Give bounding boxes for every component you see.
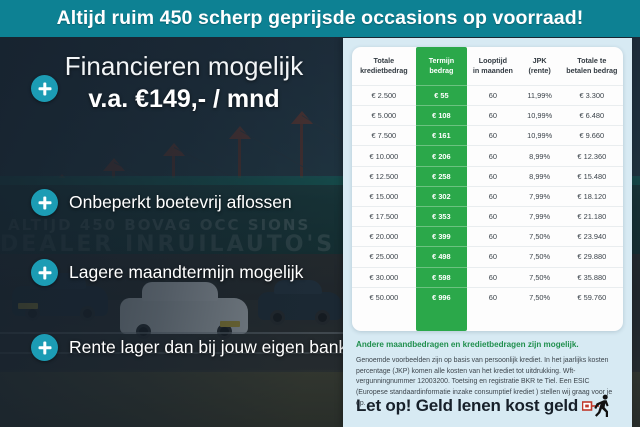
table-cell: € 108	[416, 106, 467, 126]
plus-icon	[31, 259, 58, 286]
table-cell: € 20.000	[352, 227, 416, 247]
table-cell: € 55	[416, 85, 467, 105]
table-cell: € 258	[416, 166, 467, 186]
table-row: € 5.000€ 1086010,99%€ 6.480	[352, 106, 623, 126]
table-row: € 50.000€ 996607,50%€ 59.760	[352, 287, 623, 307]
disclaimer-title: Andere maandbedragen en kredietbedragen …	[356, 340, 620, 351]
table-cell: € 21.180	[561, 207, 623, 227]
credit-warning-text: Let op! Geld lenen kost geld	[356, 396, 578, 416]
table-cell: 7,50%	[519, 287, 561, 307]
table-row: € 2.500€ 556011,99%€ 3.300	[352, 85, 623, 105]
table-cell: € 206	[416, 146, 467, 166]
table-cell: 60	[467, 287, 518, 307]
table-header-row: Totalekredietbedrag Termijnbedrag Loopti…	[352, 47, 623, 85]
feature-bullet-label: Rente lager dan bij jouw eigen bank	[69, 337, 347, 358]
table-cell: 60	[467, 166, 518, 186]
table-cell: € 50.000	[352, 287, 416, 307]
rates-panel: Totalekredietbedrag Termijnbedrag Loopti…	[343, 38, 632, 427]
table-row: € 17.500€ 353607,99%€ 21.180	[352, 207, 623, 227]
table-cell: 60	[467, 227, 518, 247]
table-cell: € 18.120	[561, 186, 623, 206]
feature-bullet-label: Lagere maandtermijn mogelijk	[69, 262, 303, 283]
table-cell: 7,99%	[519, 207, 561, 227]
table-cell: € 35.880	[561, 267, 623, 287]
table-body: € 2.500€ 556011,99%€ 3.300€ 5.000€ 10860…	[352, 85, 623, 307]
table-cell: € 29.880	[561, 247, 623, 267]
table-cell: € 15.000	[352, 186, 416, 206]
table-row: € 25.000€ 498607,50%€ 29.880	[352, 247, 623, 267]
table-cell: € 996	[416, 287, 467, 307]
table-cell: 7,50%	[519, 247, 561, 267]
table-cell: € 2.500	[352, 85, 416, 105]
table-cell: € 9.660	[561, 126, 623, 146]
feature-bullet-aflossen: Onbeperkt boetevrij aflossen	[31, 189, 351, 216]
table-cell: 7,99%	[519, 186, 561, 206]
left-content-column: Financieren mogelijk v.a. €149,- / mnd O…	[0, 37, 345, 427]
table-cell: 60	[467, 106, 518, 126]
promo-header-text: Altijd ruim 450 scherp geprijsde occasio…	[57, 7, 584, 30]
table-cell: € 17.500	[352, 207, 416, 227]
table-cell: 7,50%	[519, 227, 561, 247]
table-cell: 10,99%	[519, 106, 561, 126]
column-header-looptijd: Looptijdin maanden	[467, 47, 518, 85]
feature-bullet-maandtermijn: Lagere maandtermijn mogelijk	[31, 259, 351, 286]
credit-rates-table: Totalekredietbedrag Termijnbedrag Loopti…	[352, 47, 623, 307]
table-cell: 10,99%	[519, 126, 561, 146]
table-cell: 60	[467, 85, 518, 105]
column-header-jkp: JPK(rente)	[519, 47, 561, 85]
table-cell: € 59.760	[561, 287, 623, 307]
table-cell: € 5.000	[352, 106, 416, 126]
table-cell: € 25.000	[352, 247, 416, 267]
table-row: € 15.000€ 302607,99%€ 18.120	[352, 186, 623, 206]
table-cell: 60	[467, 267, 518, 287]
table-cell: 8,99%	[519, 146, 561, 166]
table-cell: 60	[467, 247, 518, 267]
table-cell: 60	[467, 146, 518, 166]
table-cell: € 498	[416, 247, 467, 267]
financing-ad-banner: ALTIJD 450 BOVAG OCC SIONS DEALER INRUIL…	[0, 0, 640, 427]
table-row: € 10.000€ 206608,99%€ 12.360	[352, 146, 623, 166]
table-cell: € 7.500	[352, 126, 416, 146]
table-row: € 20.000€ 399607,50%€ 23.940	[352, 227, 623, 247]
table-cell: € 353	[416, 207, 467, 227]
plus-icon	[31, 75, 58, 102]
table-cell: € 12.500	[352, 166, 416, 186]
plus-icon	[31, 189, 58, 216]
table-cell: 60	[467, 207, 518, 227]
table-cell: € 15.480	[561, 166, 623, 186]
column-header-kredietbedrag: Totalekredietbedrag	[352, 47, 416, 85]
table-cell: € 23.940	[561, 227, 623, 247]
table-cell: € 30.000	[352, 267, 416, 287]
table-cell: € 10.000	[352, 146, 416, 166]
table-row: € 12.500€ 258608,99%€ 15.480	[352, 166, 623, 186]
feature-bullet-rente: Rente lager dan bij jouw eigen bank	[31, 334, 351, 361]
headline-bullet-marker	[31, 75, 351, 102]
table-cell: € 399	[416, 227, 467, 247]
credit-warning-block: Let op! Geld lenen kost geld	[356, 394, 622, 418]
table-cell: € 598	[416, 267, 467, 287]
feature-bullet-label: Onbeperkt boetevrij aflossen	[69, 192, 292, 213]
table-cell: € 161	[416, 126, 467, 146]
table-cell: 7,50%	[519, 267, 561, 287]
column-header-termijnbedrag: Termijnbedrag	[416, 47, 467, 85]
table-cell: € 302	[416, 186, 467, 206]
table-cell: 8,99%	[519, 166, 561, 186]
table-cell: € 3.300	[561, 85, 623, 105]
plus-icon	[31, 334, 58, 361]
table-cell: € 6.480	[561, 106, 623, 126]
table-row: € 7.500€ 1616010,99%€ 9.660	[352, 126, 623, 146]
table-cell: 60	[467, 126, 518, 146]
rates-table-card: Totalekredietbedrag Termijnbedrag Loopti…	[352, 47, 623, 331]
promo-header-banner: Altijd ruim 450 scherp geprijsde occasio…	[0, 0, 640, 37]
table-cell: 11,99%	[519, 85, 561, 105]
running-man-warning-icon	[582, 394, 612, 418]
table-cell: 60	[467, 186, 518, 206]
table-row: € 30.000€ 598607,50%€ 35.880	[352, 267, 623, 287]
column-header-totaal: Totale tebetalen bedrag	[561, 47, 623, 85]
table-cell: € 12.360	[561, 146, 623, 166]
